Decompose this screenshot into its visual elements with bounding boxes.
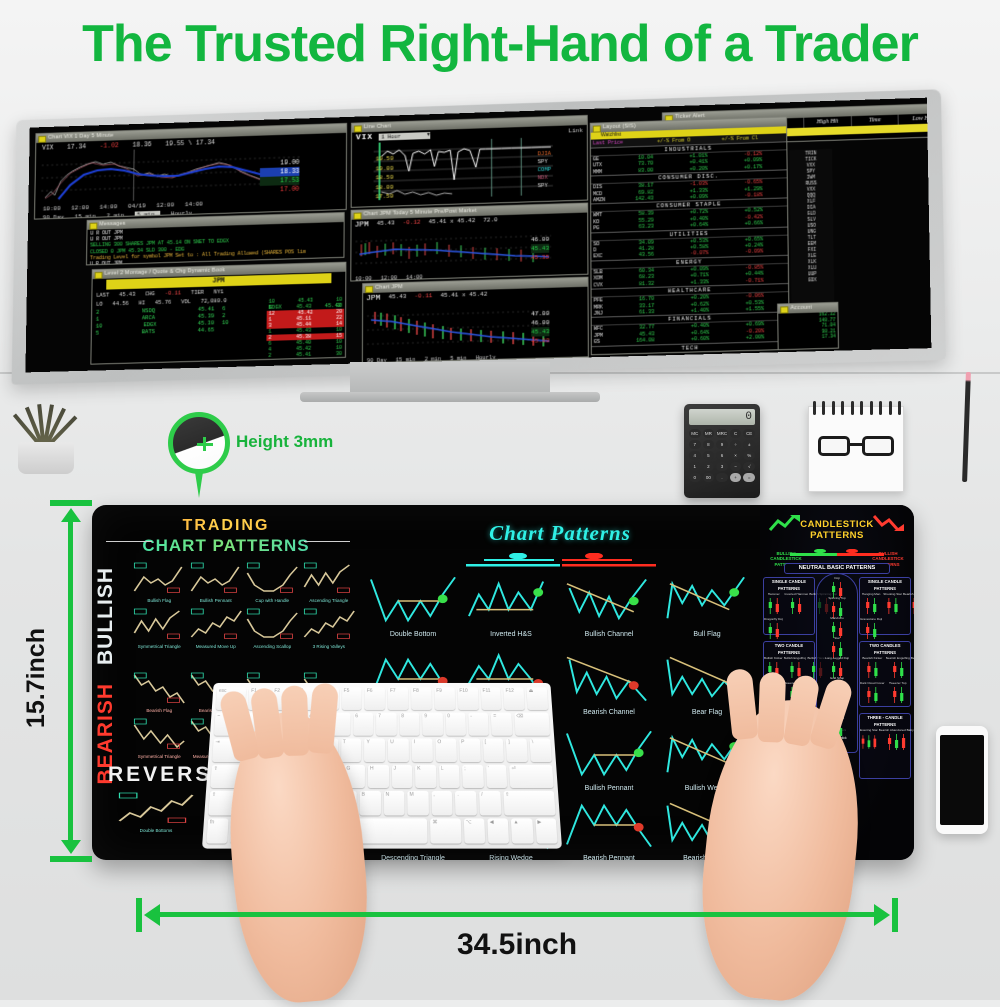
index-panel-body: SPY162.32DIA148.77QQQ71.04IWM98.21VXX17.… [778,312,838,342]
center-pattern-cell: Bull Flag [660,573,754,638]
window-messages[interactable]: Messages U R OUT JPM U R OUT JPM SELLING… [86,212,345,265]
candle-pattern-glyph [903,596,914,616]
calculator-key-C[interactable]: C [730,429,742,438]
candle-pattern-glyph [764,596,783,616]
plant-pot [18,442,74,474]
candle-pattern-glyph [879,732,914,752]
candle-pattern-glyph [784,596,808,616]
desk-plant [2,358,88,468]
center-pattern-label: Double Bottom [366,631,460,638]
pattern-label: Bullish Flag [132,598,187,603]
center-pattern-label: Bearish Channel [562,709,656,716]
vix-xtick-2: 14:00 [100,203,118,210]
wl-price: 164.08 [620,337,654,344]
key-bracket-left[interactable]: [ [482,738,504,761]
level2-bids: 2 NSDQ 45.41 1 ARCA 45.39 10 EDGX 45 [96,305,215,336]
vix-xtick-0: 10:00 [43,205,61,212]
box-bearish-two: TWO CANDLES PATTERNS Bearish KickerBeari… [859,641,911,707]
vix-price-3: 17.00 [260,185,300,195]
window-level2[interactable]: Level 2 Montage / Quote & Chg Dynamic Bo… [90,262,346,365]
key-option-right[interactable]: ⌥ [464,819,486,844]
pattern-thumbnail [302,607,357,643]
pattern-thumbnail [189,561,244,597]
pattern-cell: Ascending Triangle [302,561,357,603]
items-bearish-two: Bearish KickerBearish EngulfingBearish H… [860,656,910,705]
pattern-thumbnail [132,717,187,753]
bid-size: 10 [96,323,103,330]
calculator-key-x[interactable]: . [716,473,728,482]
pattern-label: Bullish Pennant [189,598,244,603]
height-label: Height 3mm [236,432,333,452]
vix-price-levels: 19.00 18.33 17.53 17.00 [260,158,300,195]
candles-bull-bear-divider [790,549,884,557]
ticker-col-low-hit: Low Hit [899,113,931,125]
pattern-label: Bearish Flag [132,708,187,713]
calculator-key-9[interactable]: 9 [716,440,728,449]
pattern-cell: Cup with Handle [245,561,300,603]
pattern-label: 3 Rising Valleys [302,644,357,649]
candlestick-title-2: PATTERNS [810,530,864,541]
candle-pattern-item: Bearish Engulfing [886,656,910,680]
dimension-vertical-label: 15.7inch [22,628,51,728]
jpm-xtick-2: 14:00 [406,273,422,280]
key-shift-right[interactable]: ⇧ [503,791,556,815]
vix-xtick-1: 12:00 [71,204,89,211]
candle-pattern-item: Hanging Man [860,592,882,616]
center-pattern-thumb [366,573,460,629]
key-fn[interactable]: fn [206,819,228,844]
watchlist-body: INDUSTRIALSGE10.04+1.01%-0.12%UTX73.70+0… [591,141,790,355]
wl-price: 27.89 [620,353,654,355]
candle-pattern-glyph [911,660,914,680]
calculator-key-4[interactable]: 4 [689,451,701,460]
calculator-key-x[interactable]: × [730,451,742,460]
key-arrow-updown[interactable]: ▲ [511,819,533,844]
key-equals[interactable]: = [491,713,512,736]
monitor-stand [350,362,550,396]
key-delete[interactable]: ⌫ [514,713,550,736]
center-pattern-thumb [562,797,656,853]
l2-chg-value: -0.11 [165,289,181,296]
pattern-label: Ascending Scallop [245,644,300,649]
jpm2-price-levels: 47.00 46.00 45.43 45.00 [531,309,549,346]
vix-plot: 19.00 18.33 17.53 17.00 [41,144,302,204]
jpm-price-levels: 46.00 45.43 45.35 [531,235,549,263]
key-i[interactable]: I [412,738,433,761]
header-two-bullish: TWO CANDLE PATTERNS [764,642,814,656]
jpm-bidask: 45.41 x 45.42 [429,217,476,227]
wl-symbol: QQQ [594,354,620,355]
thickness-tick-vertical [203,437,206,451]
calculator-key-0[interactable]: 0 [689,473,701,482]
pattern-thumbnail [132,671,187,707]
mat-title-trading: TRADING [92,517,360,535]
monitor-stand-base [300,392,600,402]
center-pattern-cell: Bullish Pennant [562,727,656,792]
calculator-key-1[interactable]: 1 [689,462,701,471]
legend-item: SPY [538,182,551,190]
vix-open: 18.36 [132,141,151,148]
pattern-cell: Double Bottoms [116,791,196,833]
key-u[interactable]: U [388,738,409,761]
dim-h-arrow-right [874,904,890,926]
symbol-strip-item[interactable]: GDX [791,278,834,285]
jpm2-change: -0.11 [414,292,432,302]
neutral-pattern-glyph [817,600,857,614]
candle-pattern-glyph [860,596,882,616]
bearish-arrow-icon [872,513,906,533]
index-symbol: VXX [781,336,789,342]
header-two-bearish: TWO CANDLES PATTERNS [860,642,910,656]
pattern-label: Symmetrical Triangle [132,754,187,759]
key-7[interactable]: 7 [376,713,396,736]
pattern-label: Symmetrical Triangle [132,644,187,649]
wl-symbol: EXC [593,253,619,260]
calculator-key-7[interactable]: 7 [689,440,701,449]
pattern-label: Ascending Triangle [302,598,357,603]
key-m[interactable]: M [407,791,428,815]
ticker-col-high-hit: High Hit [804,116,851,128]
key-eject[interactable]: ⏏ [527,687,549,709]
monitor: Chart VIX 1 Day 5 Minute VIX 17.34 -1.02… [8,104,938,372]
legend-item: DJIA [538,150,551,158]
wl-price: 43.56 [620,252,654,259]
wl-symbol: AMZN [593,197,619,204]
wl-price: 83.00 [619,167,653,174]
key-6[interactable]: 6 [353,713,373,736]
height-callout: Height 3mm [168,412,368,492]
wl-symbol: GS [594,338,620,345]
dim-v-arrow-up [61,508,81,522]
neutral-pattern-glyph [817,580,857,594]
center-pattern-label: Rising Wedge [464,855,558,860]
center-pattern-label: Bullish Pennant [562,785,656,792]
candle-pattern-item: Hammer [764,592,783,616]
center-pattern-label: Inverted H&S [464,631,558,638]
neutral-pattern-glyph [817,640,857,654]
calculator-key-x[interactable]: √ [743,462,755,471]
candle-pattern-glyph [886,685,910,705]
neutral-pattern-glyph [817,660,857,674]
key-f7[interactable]: F7 [388,687,408,709]
l2-lo-label: LO [96,301,103,308]
key-slash[interactable]: / [479,791,501,815]
jpm-xtick-0: 10:00 [355,275,371,282]
line-chart-plot: 19.50 19.00 18.50 18.00 17.50 DJIA SPY C… [373,137,552,200]
center-pattern-cell: Double Bottom [366,573,460,638]
jpm2-price-3: 45.00 [531,336,549,346]
key-f11[interactable]: F11 [480,687,501,709]
pattern-cell: Measured Move Up [189,607,244,649]
center-pattern-cell: Bearish Pennant [562,797,656,860]
line-chart-yaxis: 19.50 19.00 18.50 18.00 17.50 [375,154,393,202]
calculator-key-x[interactable]: = [743,473,755,482]
bull-bear-divider [444,553,676,567]
key-j[interactable]: J [392,764,413,788]
calculator-key-3[interactable]: 3 [716,462,728,471]
smartphone[interactable] [936,726,988,834]
pattern-thumbnail [132,561,187,597]
vix-xtick-4: 12:00 [156,201,174,208]
key-8[interactable]: 8 [399,713,419,736]
wl-price: 63.23 [619,224,653,231]
candle-pattern-glyph [886,660,910,680]
center-pattern-thumb [464,573,558,629]
key-9[interactable]: 9 [422,713,443,736]
product-scene: The Trusted Right-Hand of a Trader Chart… [0,0,1000,1000]
tape-size: 8 [268,359,271,365]
bid-px: 44.65 [198,326,214,333]
center-pattern-label: Bull Flag [660,631,754,638]
candle-pattern-glyph [860,685,885,705]
key-0[interactable]: 0 [445,713,466,736]
candle-pattern-item: Bearish Abandoned Baby [879,728,914,752]
jpm2-bidask: 45.41 x 45.42 [440,291,487,301]
calculator-key-x[interactable]: + [730,473,742,482]
tape-row: 845.3920 [266,357,344,365]
calculator-key-00[interactable]: 00 [703,473,715,482]
candle-pattern-item: Bearish Kicker [860,656,885,680]
header-single-bearish: SINGLE CANDLE PATTERNS [860,578,910,592]
key-minus[interactable]: - [468,713,489,736]
wl-symbol: PG [593,225,619,232]
dim-h-arrow-left [144,904,160,926]
key-o[interactable]: O [435,738,456,761]
eyeglasses [818,436,894,460]
candle-pattern-item: Evening Star [860,728,878,752]
l2-tier-label: TIER [191,289,204,296]
key-b[interactable]: B [359,791,380,815]
calculator-key-CE[interactable]: CE [743,429,755,438]
box-bearish-single: SINGLE CANDLE PATTERNS Hanging ManShooti… [859,577,911,635]
neutral-pattern-item: Doji [817,576,857,594]
key-quote[interactable]: ' [486,764,508,788]
key-arrow-right[interactable]: ▶ [535,819,557,844]
candle-pattern-item: Shooting Star [883,592,902,616]
window-watchlist[interactable]: Layout (SIS) Watchlist Last Price +/-% F… [590,116,790,355]
candle-pattern-glyph [883,596,902,616]
box-bearish-three: THREE - CANDLE PATTERNS Evening StarBear… [859,713,911,779]
l2-hi-label: HI [139,299,146,306]
link-button[interactable]: Link [568,127,582,134]
key-l[interactable]: L [439,764,460,788]
key-return[interactable]: ⏎ [509,764,553,788]
key-period[interactable]: . [455,791,477,815]
key-bracket-right[interactable]: ] [506,738,528,761]
calculator-key-x[interactable]: ± [743,440,755,449]
key-command-right[interactable]: ⌘ [430,819,461,844]
jpm-change: -0.12 [403,219,421,229]
box-bullish-single: SINGLE CANDLE PATTERNS HammerInverted Ha… [763,577,815,635]
key-h[interactable]: H [368,764,389,788]
l2-last-label: LAST [96,292,109,299]
dim-h-cap-left [136,898,142,932]
title-rule-right [304,541,350,542]
jpm-price-2: 45.35 [531,253,549,263]
l2-chg-label: CHG [145,290,155,297]
mat-title-chart-patterns-script: Chart Patterns [360,521,760,546]
wl-symbol: JNJ [594,310,620,317]
grid-bullish-patterns: Bullish FlagBullish PennantCup with Hand… [132,561,356,649]
index-value: 17.34 [822,335,836,341]
vix-xtick-3: 04/19 [128,202,146,209]
center-pattern-cell: Bullish Channel [562,573,656,638]
pattern-cell: Bullish Pennant [189,561,244,603]
center-pattern-cell: Inverted H&S [464,573,558,638]
header-single-bullish: SINGLE CANDLE PATTERNS [764,578,814,592]
lc-ytick-2: 18.50 [376,173,394,183]
l2-vol-value: 72,080.0 [201,297,227,305]
calculator-key-MRC[interactable]: MRC [716,429,728,438]
candle-pattern-item: Bearish Spinning Top [903,592,914,616]
legend-item: COMP [538,166,551,174]
key-f5[interactable]: F5 [341,687,362,709]
pattern-cell: 3 Rising Valleys [302,607,357,649]
calculator-keypad[interactable]: MCMRMRCCCE789÷±456×%123−√000.+= [689,429,755,482]
vix-tf-90day[interactable]: 90 Day [43,214,64,220]
pattern-thumbnail [302,561,357,597]
window-index-panel[interactable]: Account SPY162.32DIA148.77QQQ71.04IWM98.… [777,302,839,350]
calculator-key-MR[interactable]: MR [703,429,715,438]
key-comma[interactable]: , [431,791,453,815]
wl-price: 61.33 [620,309,654,316]
candle-pattern-item: Inverted Hammer [784,592,808,616]
candle-pattern-item: Tweezer Top [886,681,910,705]
center-pattern-label: Bullish Channel [562,631,656,638]
window-vix-chart[interactable]: Chart VIX 1 Day 5 Minute VIX 17.34 -1.02… [34,123,347,220]
dim-v-arrow-down [61,840,81,854]
pattern-thumbnail [116,791,196,827]
monitor-screen: Chart VIX 1 Day 5 Minute VIX 17.34 -1.02… [25,98,931,373]
key-t[interactable]: T [341,738,362,761]
line-chart-legend: DJIA SPY COMP NDX SPY [538,150,551,190]
vix-change: -1.02 [100,142,119,149]
candle-pattern-glyph [860,660,885,680]
window-jpm-chart[interactable]: Chart JPM Today 5 Minute Pre/Post Market… [350,203,588,282]
vix-tf-15min[interactable]: 15 min [75,213,96,220]
calculator-key-6[interactable]: 6 [716,451,728,460]
center-pattern-thumb [562,727,656,783]
phone-screen [940,735,984,825]
pattern-cell: Bearish Flag [132,671,187,713]
calculator-key-5[interactable]: 5 [703,451,715,460]
dimension-horizontal: 34.5inch [136,892,898,972]
pattern-cell: Ascending Scallop [245,607,300,649]
vix-xtick-5: 14:00 [185,201,203,208]
candlestick-title-1: CANDLESTICK [800,519,874,530]
bullish-arrow-icon [768,513,802,533]
neutral-pattern-glyph [817,620,857,634]
calculator-key-MC[interactable]: MC [689,429,701,438]
title-rule-left [106,541,152,542]
center-pattern-thumb [562,651,656,707]
interval-select[interactable]: 1 Hour [379,132,431,141]
jpm-xtick-1: 12:00 [381,274,397,281]
dim-v-cap-bottom [50,856,92,862]
key-semicolon[interactable]: ; [462,764,484,788]
candle-pattern-item: Gravestone Doji [860,617,882,641]
bid-mm: BATS [142,328,155,335]
items-bearish-single: Hanging ManShooting StarBearish Spinning… [860,592,910,641]
pattern-label: Double Bottoms [116,828,196,833]
jpm2-symbol: JPM [366,294,380,303]
wl-symbol: MMM [593,168,619,175]
l2-hi-value: 45.76 [155,299,171,306]
key-k[interactable]: K [415,764,436,788]
calculator-key-2[interactable]: 2 [703,462,715,471]
key-f9[interactable]: F9 [434,687,455,709]
center-pattern-thumb [660,573,754,629]
dim-h-line [152,912,882,917]
candle-pattern-item: Dark Cloud Cover [860,681,885,705]
bid-size: 5 [96,330,99,337]
center-pattern-cell: Bearish Channel [562,651,656,716]
calculator[interactable]: 0 MCMRMRCCCE789÷±456×%123−√000.+= [684,404,760,498]
vix-last: 17.34 [67,143,86,150]
key-arrow-left[interactable]: ◀ [487,819,509,844]
dim-v-cap-top [50,500,92,506]
l2-last-value: 45.43 [119,291,135,298]
dimension-horizontal-label: 34.5inch [136,928,898,962]
glasses-lens-right [862,436,894,456]
items-bearish-three: Evening StarBearish Abandoned BabyThree … [860,728,910,752]
calculator-key-x[interactable]: ÷ [730,440,742,449]
key-backslash[interactable]: \ [530,738,552,761]
pattern-cell: Bullish Flag [132,561,187,603]
center-pattern-label: Descending Triangle [366,855,460,860]
dim-h-cap-right [892,898,898,932]
items-bullish-single: HammerInverted HammerBullish Spinning To… [764,592,814,641]
pattern-cell: Symmetrical Triangle [132,607,187,649]
l2-lo-value: 44.56 [112,300,128,307]
header-three-bearish: THREE - CANDLE PATTERNS [860,714,910,728]
jpm2-last: 45.43 [388,293,406,303]
candle-pattern-glyph [764,621,783,641]
key-f10[interactable]: F10 [457,687,478,709]
jpm-last: 45.43 [377,219,395,229]
finger [758,672,786,743]
candle-pattern-item: Dragonfly Doji [764,617,783,641]
tape-price: 45.39 [296,358,311,364]
mat-title-chart-patterns: CHART PATTERNS [92,536,360,556]
key-p[interactable]: P [459,738,481,761]
level2-time-and-sales: 1045.4310 545.4330 1245.4220 145.1122 34… [266,297,344,365]
wl-price: 142.43 [619,196,653,203]
key-n[interactable]: N [384,791,405,815]
pattern-label: Cup with Handle [245,598,300,603]
ticker-col-time: Time [852,115,900,127]
tape-vol: 20 [336,357,342,363]
window-title-index-panel: Account [778,303,837,314]
key-f6[interactable]: F6 [365,687,385,709]
pattern-label: Measured Move Up [189,644,244,649]
window-line-chart[interactable]: Line Chart VIX 1 Hour Link [351,115,588,208]
calculator-key-8[interactable]: 8 [703,440,715,449]
calculator-key-x[interactable]: − [730,462,742,471]
candle-pattern-item: Bearish Harami [911,656,914,680]
pattern-thumbnail [245,561,300,597]
key-f12[interactable]: F12 [503,687,525,709]
dimension-vertical: 15.7inch [36,500,106,862]
key-f8[interactable]: F8 [411,687,432,709]
key-y[interactable]: Y [364,738,385,761]
pattern-cell: Symmetrical Triangle [132,717,187,759]
window-jpm-chart-2[interactable]: Chart JPM JPM 45.43 -0.11 45.41 x 45.42 [362,277,589,364]
calculator-key-x[interactable]: % [743,451,755,460]
jpm-plot: 46.00 45.43 45.35 [355,225,551,275]
jpm2-plot: 47.00 46.00 45.43 45.00 [367,299,552,356]
dim-v-line [68,512,73,850]
